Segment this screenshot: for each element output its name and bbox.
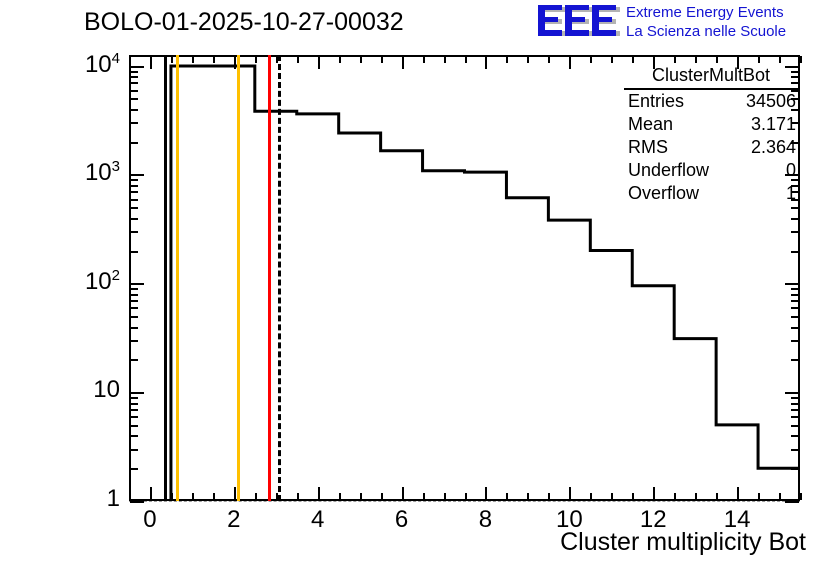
x-major-tick [318,487,320,500]
x-top-tick [485,56,487,69]
stats-row: Underflow0 [624,159,798,182]
y-minor-tick [130,218,138,220]
y-major-tick [130,501,144,503]
stats-box: ClusterMultBot Entries34506Mean3.171RMS2… [624,64,798,205]
x-axis-tick-label: 0 [120,506,180,534]
stats-rows: Entries34506Mean3.171RMS2.364Underflow0O… [624,90,798,205]
x-top-tick [339,56,341,63]
x-top-tick [213,56,215,63]
y-minor-tick [130,142,138,144]
x-minor-tick [423,493,425,500]
stats-box-title: ClusterMultBot [624,64,798,90]
x-major-tick [653,487,655,500]
y-right-tick [791,218,799,220]
x-minor-tick [213,493,215,500]
x-major-tick [402,487,404,500]
x-minor-tick [444,493,446,500]
y-minor-tick [130,288,138,290]
y-minor-tick [130,82,138,84]
y-major-tick [130,174,144,176]
y-major-tick [130,392,144,394]
y-minor-tick [130,207,138,209]
x-axis-tick-label: 2 [204,506,264,534]
stats-row-key: Underflow [628,160,709,181]
x-top-tick [129,56,131,63]
x-top-tick [297,56,299,63]
y-right-tick [791,327,799,329]
x-minor-tick [716,493,718,500]
y-axis-tick-label: 102 [10,267,120,296]
stats-row-value: 2.364 [751,137,796,158]
x-major-tick [569,487,571,500]
y-minor-tick [130,468,138,470]
x-minor-tick [465,493,467,500]
x-top-tick [150,56,152,69]
x-top-tick [192,56,194,63]
x-minor-tick [506,493,508,500]
stats-row-value: 1 [786,183,796,204]
y-right-tick [791,425,799,427]
x-top-tick [360,56,362,63]
x-top-tick [611,56,613,63]
y-axis-tick-label: 103 [10,158,120,187]
y-minor-tick [130,435,138,437]
eee-logo: Extreme Energy Events La Scienza nelle S… [536,2,832,44]
stats-row: Mean3.171 [624,113,798,136]
y-axis-tick-label: 104 [10,50,120,79]
x-top-tick [527,56,529,63]
eee-tagline-2: La Scienza nelle Scuole [626,22,836,41]
x-minor-tick [632,493,634,500]
y-major-tick [130,283,144,285]
y-right-tick [791,207,799,209]
y-right-tick [785,283,799,285]
y-minor-tick [130,90,138,92]
y-major-tick [130,66,144,68]
y-minor-tick [130,425,138,427]
y-minor-tick [130,340,138,342]
y-minor-tick [130,109,138,111]
x-minor-tick [758,493,760,500]
x-minor-tick [297,493,299,500]
y-minor-tick [130,397,138,399]
x-top-tick [465,56,467,63]
x-axis-tick-label: 4 [288,506,348,534]
x-minor-tick [800,493,802,500]
x-top-tick [506,56,508,63]
x-major-tick [234,487,236,500]
stats-row-key: Overflow [628,183,699,204]
stats-row: RMS2.364 [624,136,798,159]
x-top-tick [674,56,676,63]
x-major-tick [737,487,739,500]
x-top-tick [716,56,718,63]
y-minor-tick [130,294,138,296]
y-right-tick [791,409,799,411]
x-minor-tick [527,493,529,500]
y-gridline [129,501,800,502]
y-minor-tick [130,191,138,193]
y-minor-tick [130,76,138,78]
stats-row-value: 3.171 [751,114,796,135]
x-top-tick [423,56,425,63]
y-minor-tick [130,327,138,329]
y-minor-tick [130,416,138,418]
x-axis-tick-label: 8 [455,506,515,534]
y-minor-tick [130,307,138,309]
y-right-tick [785,501,799,503]
x-axis-tick-label: 6 [372,506,432,534]
x-top-tick [569,56,571,69]
x-top-tick [548,56,550,63]
eee-logo-mark [536,4,620,40]
x-minor-tick [548,493,550,500]
x-top-tick [381,56,383,63]
stats-row: Entries34506 [624,90,798,113]
x-minor-tick [360,493,362,500]
black-marker-line [164,55,167,501]
y-minor-tick [130,316,138,318]
x-minor-tick [611,493,613,500]
stats-row-key: Entries [628,91,684,112]
y-axis-tick-label: 10 [10,376,120,404]
y-right-tick [791,397,799,399]
eee-tagline-1: Extreme Energy Events [626,3,836,22]
page-title: BOLO-01-2025-10-27-00032 [84,8,404,37]
x-minor-tick [779,493,781,500]
y-right-tick [791,294,799,296]
y-minor-tick [130,179,138,181]
orange-marker-line-2 [237,55,240,501]
x-top-tick [779,56,781,63]
y-right-tick [791,307,799,309]
y-minor-tick [130,199,138,201]
x-minor-tick [674,493,676,500]
stats-row: Overflow1 [624,182,798,205]
y-right-tick [791,468,799,470]
eee-logo-text: Extreme Energy Events La Scienza nelle S… [626,3,836,41]
y-right-tick [791,316,799,318]
x-minor-tick [192,493,194,500]
y-minor-tick [130,300,138,302]
y-minor-tick [130,231,138,233]
x-minor-tick [129,493,131,500]
y-minor-tick [130,71,138,73]
y-minor-tick [130,122,138,124]
x-minor-tick [171,493,173,500]
x-top-tick [255,56,257,63]
x-minor-tick [590,493,592,500]
y-minor-tick [130,409,138,411]
y-axis-tick-label: 1 [10,485,120,513]
x-major-tick [150,487,152,500]
y-minor-tick [130,98,138,100]
y-minor-tick [130,251,138,253]
root-canvas: BOLO-01-2025-10-27-00032 [0,0,836,572]
x-top-tick [758,56,760,63]
y-right-tick [785,392,799,394]
y-minor-tick [130,449,138,451]
x-top-tick [171,56,173,63]
x-minor-tick [381,493,383,500]
stats-row-key: RMS [628,137,668,158]
y-right-tick [791,359,799,361]
black-dashed-mean-line [278,55,281,501]
x-top-tick [800,56,802,63]
red-marker-line [268,55,271,501]
stats-row-value: 34506 [746,91,796,112]
x-top-tick [318,56,320,69]
y-right-tick [791,403,799,405]
x-minor-tick [255,493,257,500]
x-axis-title: Cluster multiplicity Bot [560,528,806,557]
stats-row-key: Mean [628,114,673,135]
x-top-tick [402,56,404,69]
x-minor-tick [695,493,697,500]
y-right-tick [791,416,799,418]
y-right-tick [791,251,799,253]
y-minor-tick [130,185,138,187]
x-top-tick [234,56,236,69]
y-right-tick [791,340,799,342]
x-top-tick [695,56,697,63]
x-top-tick [632,56,634,63]
stats-row-value: 0 [786,160,796,181]
y-right-tick [791,300,799,302]
y-right-tick [791,449,799,451]
y-right-tick [791,435,799,437]
x-top-tick [444,56,446,63]
x-minor-tick [339,493,341,500]
y-right-tick [791,288,799,290]
x-top-tick [590,56,592,63]
x-major-tick [485,487,487,500]
y-minor-tick [130,403,138,405]
orange-marker-line-1 [176,55,179,501]
y-right-tick [791,231,799,233]
y-minor-tick [130,359,138,361]
